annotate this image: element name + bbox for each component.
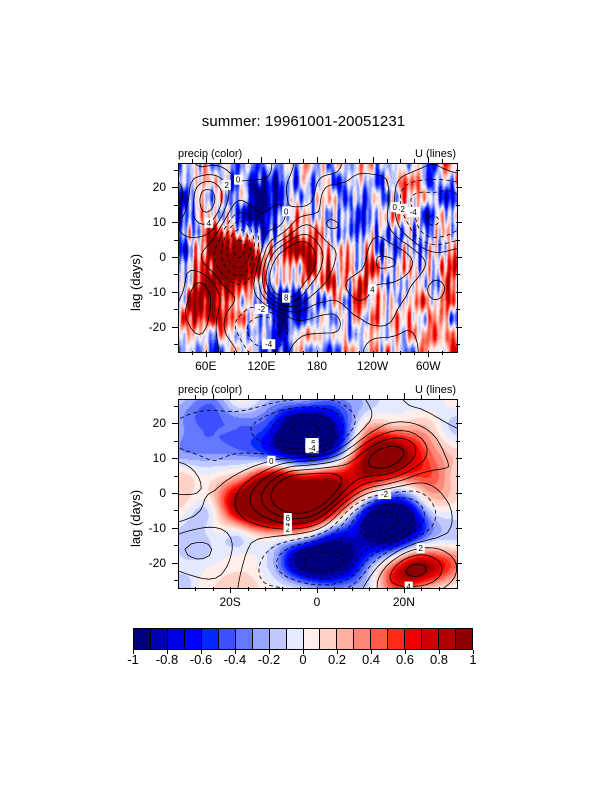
contour-line [403,400,457,429]
contour-line [201,201,340,353]
colorbar-cell-16 [405,629,422,649]
x-tick-major [373,351,374,357]
y-tick-major [172,222,178,223]
x-axis-label: 20S [200,595,260,609]
x-tick-minor [220,351,221,355]
x-tick-minor [421,587,422,591]
y-axis-label: 10 [126,451,166,465]
y-axis-label: 20 [126,180,166,194]
x-tick-minor-top [387,159,388,163]
y-tick-major [172,292,178,293]
y-tick-major [172,528,178,529]
x-tick-minor [275,351,276,355]
y-tick-major-right [456,222,462,223]
contour-line [200,189,215,212]
figure: summer: 19961001-20051231 precip (color)… [0,0,607,787]
x-axis-label: 180 [287,359,347,373]
x-tick-minor [192,351,193,355]
colorbar-cell-14 [371,629,388,649]
x-tick-minor [414,351,415,355]
contour-label: 0 [236,176,241,185]
x-tick-minor-top [421,395,422,399]
contour-label: 8 [284,294,289,303]
x-tick-major-top [230,393,231,399]
contour-line [363,331,418,353]
x-tick-minor [334,587,335,591]
y-tick-minor-right [456,580,460,581]
y-axis-label: -10 [126,521,166,535]
y-tick-minor [174,240,178,241]
x-tick-minor [195,587,196,591]
contour-line [277,498,425,585]
contour-label: -2 [258,305,266,314]
x-tick-major [261,351,262,357]
contour-line [214,212,259,284]
y-tick-major [172,563,178,564]
x-tick-minor [303,351,304,355]
y-tick-minor [174,309,178,310]
contour-line [360,512,398,536]
x-tick-major [230,587,231,593]
colorbar-cell-2 [168,629,185,649]
x-axis-label: 0 [287,595,347,609]
x-tick-minor [352,587,353,591]
x-tick-minor [331,351,332,355]
contour-line [376,256,396,269]
y-tick-minor-right [456,344,460,345]
x-tick-minor [234,351,235,355]
contour-line [234,240,245,258]
contour-line [377,548,457,588]
contour-line [185,283,210,335]
contour-label: 0 [392,203,397,212]
y-tick-major-right [456,292,462,293]
contour-line [251,407,344,448]
x-tick-minor-top [334,395,335,399]
colorbar-label: 1 [448,652,498,667]
x-tick-major-top [317,393,318,399]
colorbar-cell-18 [439,629,456,649]
x-tick-minor-top [414,159,415,163]
contour-line [304,552,344,571]
x-tick-minor-top [442,159,443,163]
y-tick-major-right [456,327,462,328]
y-tick-minor-right [456,240,460,241]
y-tick-major [172,187,178,188]
y-tick-minor [174,406,178,407]
x-tick-major-top [261,157,262,163]
contour-line [195,164,271,181]
y-tick-minor-right [456,406,460,407]
x-tick-minor-top [439,395,440,399]
x-tick-major [317,587,318,593]
y-tick-minor [174,580,178,581]
x-tick-major [206,351,207,357]
x-tick-minor-top [248,159,249,163]
contour-label: 4 [406,583,411,588]
contour-line [292,423,319,435]
y-tick-minor [174,441,178,442]
panel-lag-longitude: -4-4-2-20002448 [178,163,458,353]
x-tick-minor-top [345,159,346,163]
x-tick-minor-top [359,159,360,163]
panel-top-caption-left: precip (color) [178,148,242,160]
contour-label: 4 [370,285,375,294]
y-tick-minor-right [456,170,460,171]
x-tick-minor [248,351,249,355]
x-axis-label: 20N [374,595,434,609]
contour-line [326,219,339,229]
x-tick-minor-top [275,159,276,163]
y-axis-label: -20 [126,556,166,570]
colorbar-cell-1 [151,629,168,649]
y-axis-label: -10 [126,285,166,299]
x-tick-minor-top [331,159,332,163]
y-tick-minor-right [456,309,460,310]
contour-line [429,215,439,226]
contour-line [221,221,254,276]
y-tick-minor-right [456,274,460,275]
contour-label: 2 [224,181,229,190]
contour-line [271,414,334,443]
colorbar-cell-4 [202,629,219,649]
x-tick-minor [369,587,370,591]
contour-label: -4 [410,208,418,217]
x-tick-minor-top [282,395,283,399]
x-tick-major-top [317,157,318,163]
x-tick-minor [300,587,301,591]
u-contour-lines-bottom: -6-4-2022446 [179,400,457,588]
y-tick-major-right [456,528,462,529]
x-tick-major-top [206,157,207,163]
y-tick-minor [174,170,178,171]
x-tick-minor-top [195,395,196,399]
x-tick-minor-top [352,395,353,399]
contour-label: -4 [265,340,273,349]
y-tick-minor [174,510,178,511]
y-tick-major-right [456,563,462,564]
contour-label: 2 [418,544,423,553]
x-tick-major-top [428,157,429,163]
x-tick-minor [442,351,443,355]
contour-label: 4 [207,219,212,228]
x-tick-minor [265,587,266,591]
y-tick-minor-right [456,441,460,442]
contour-line [346,236,413,300]
colorbar-cell-7 [253,629,270,649]
contour-label: 6 [286,514,291,523]
x-tick-minor-top [192,159,193,163]
colorbar-cell-12 [337,629,354,649]
x-tick-minor [387,587,388,591]
colorbar-cell-9 [287,629,304,649]
contour-line [179,183,183,205]
colorbar-cell-11 [320,629,337,649]
x-tick-minor [289,351,290,355]
contour-line [261,438,416,519]
contour-label: -2 [398,205,406,214]
contour-line [271,473,341,513]
contour-label: 0 [284,207,289,216]
y-axis-label: -20 [126,320,166,334]
colorbar-cell-10 [304,629,321,649]
y-tick-minor-right [456,510,460,511]
colorbar-cell-15 [388,629,405,649]
x-tick-minor [345,351,346,355]
contour-line [286,164,341,207]
y-tick-major [172,327,178,328]
colorbar-cell-17 [422,629,439,649]
x-tick-minor-top [387,395,388,399]
contour-line [238,483,452,588]
x-tick-minor-top [300,395,301,399]
contour-line [428,280,445,300]
x-axis-label: 120W [343,359,403,373]
panel-top-caption-right: U (lines) [415,148,456,160]
x-tick-major-top [404,393,405,399]
x-tick-minor-top [303,159,304,163]
x-tick-minor-top [234,159,235,163]
x-tick-minor [400,351,401,355]
x-tick-major [404,587,405,593]
x-axis-label: 120E [231,359,291,373]
y-tick-major-right [456,187,462,188]
contour-line [406,564,427,577]
y-axis-label: 20 [126,416,166,430]
y-tick-minor [174,545,178,546]
panel-bottom-caption-left: precip (color) [178,384,242,396]
contour-line [368,446,403,468]
contour-line [179,400,355,461]
y-tick-major-right [456,458,462,459]
x-tick-minor [248,587,249,591]
x-tick-minor-top [213,395,214,399]
contour-line [179,462,201,495]
panel-lag-latitude: -6-4-2022446 [178,399,458,589]
x-tick-minor [282,587,283,591]
x-tick-major [428,351,429,357]
contour-line [179,175,229,238]
y-axis-label: 0 [126,250,166,264]
x-axis-label: 60W [398,359,458,373]
contour-label: 0 [269,457,274,466]
y-tick-minor [174,274,178,275]
contour-label: -4 [308,444,316,453]
contour-label: -2 [381,490,389,499]
y-tick-minor-right [456,545,460,546]
y-tick-major [172,423,178,424]
y-tick-major [172,493,178,494]
contour-line [227,229,250,268]
contour-line [185,543,212,559]
x-tick-minor-top [265,395,266,399]
y-tick-major [172,257,178,258]
x-axis-label: 60E [176,359,236,373]
x-tick-minor-top [248,395,249,399]
x-tick-major-top [373,157,374,163]
y-tick-minor [174,344,178,345]
u-contour-lines-top: -4-4-2-20002448 [179,164,457,352]
colorbar [133,628,473,650]
contour-line [235,422,449,529]
contour-line [179,400,294,419]
x-tick-minor [439,587,440,591]
colorbar-cell-0 [134,629,151,649]
y-axis-label: 10 [126,215,166,229]
x-tick-minor-top [400,159,401,163]
x-tick-minor-top [289,159,290,163]
y-tick-major-right [456,257,462,258]
figure-title: summer: 19961001-20051231 [0,113,607,130]
y-tick-minor [174,476,178,477]
y-axis-label: 0 [126,486,166,500]
contour-line [390,555,442,587]
colorbar-cell-5 [219,629,236,649]
colorbar-cell-3 [185,629,202,649]
colorbar-cell-8 [270,629,287,649]
x-tick-major [317,351,318,357]
y-tick-minor-right [456,205,460,206]
x-tick-minor [359,351,360,355]
contour-line [263,225,337,307]
y-tick-minor [174,205,178,206]
y-tick-major [172,458,178,459]
x-tick-minor [213,587,214,591]
y-tick-major-right [456,423,462,424]
colorbar-cell-13 [354,629,371,649]
x-tick-minor-top [369,395,370,399]
x-tick-minor-top [220,159,221,163]
colorbar-cell-6 [236,629,253,649]
x-tick-minor [387,351,388,355]
y-tick-major-right [456,493,462,494]
y-tick-minor-right [456,476,460,477]
colorbar-cell-19 [456,629,472,649]
